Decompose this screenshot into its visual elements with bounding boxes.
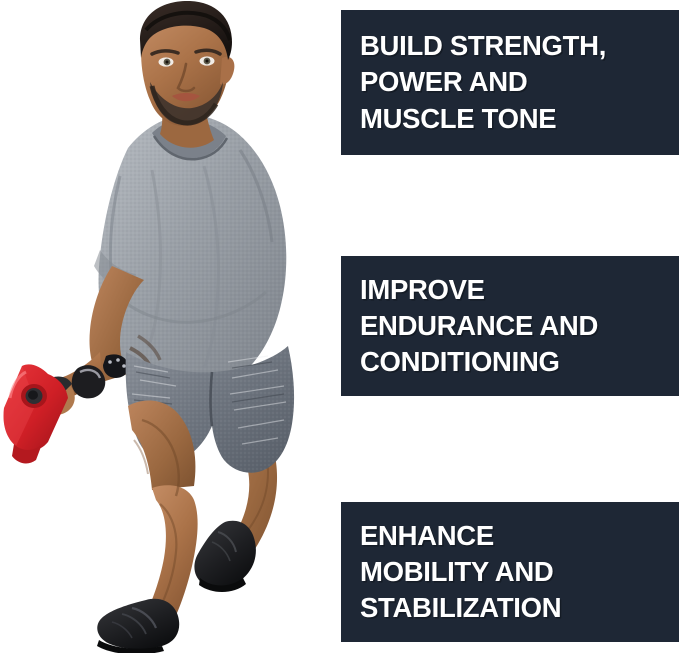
torso-shirt <box>94 115 286 389</box>
benefit-text-build-strength: BUILD STRENGTH, POWER AND MUSCLE TONE <box>341 28 614 137</box>
front-leg <box>128 401 198 624</box>
benefit-panel-enhance-mobility: ENHANCE MOBILITY AND STABILIZATION <box>341 502 679 642</box>
benefit-panel-build-strength: BUILD STRENGTH, POWER AND MUSCLE TONE <box>341 10 679 155</box>
athlete-illustration <box>0 0 341 653</box>
back-shoe <box>194 521 256 592</box>
benefit-text-improve-endurance: IMPROVE ENDURANCE AND CONDITIONING <box>341 272 606 381</box>
benefit-panel-improve-endurance: IMPROVE ENDURANCE AND CONDITIONING <box>341 256 679 396</box>
benefit-text-enhance-mobility: ENHANCE MOBILITY AND STABILIZATION <box>341 518 569 627</box>
benefits-banner: BUILD STRENGTH, POWER AND MUSCLE TONE IM… <box>0 0 679 653</box>
front-shoe <box>97 599 179 653</box>
athlete-photo <box>0 0 341 653</box>
